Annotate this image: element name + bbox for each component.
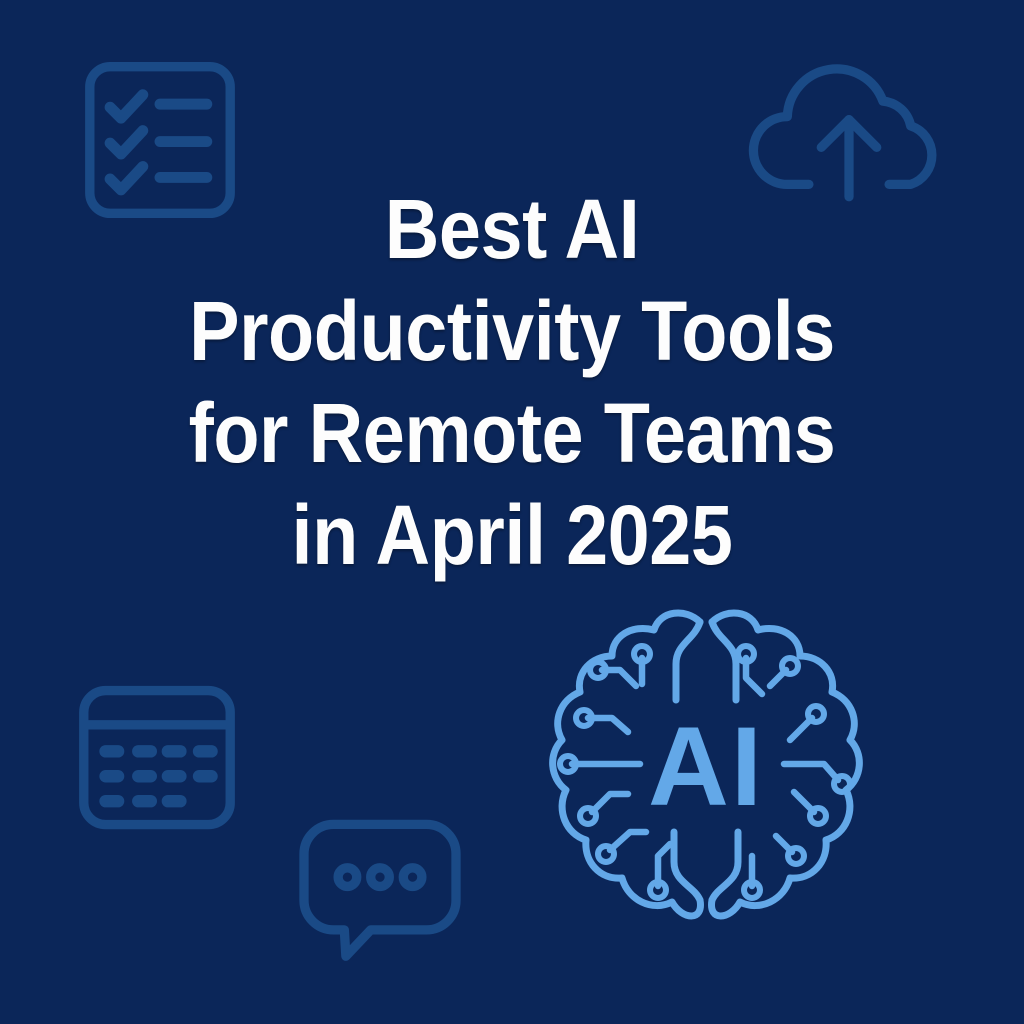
page-title: Best AI Productivity Tools for Remote Te…	[0, 178, 1024, 586]
chat-bubble-icon	[296, 812, 464, 964]
headline-line-1: Best AI	[87, 178, 937, 280]
ai-brain-icon: AI	[536, 600, 876, 944]
headline-line-2: Productivity Tools	[87, 280, 937, 382]
calendar-icon	[76, 678, 238, 834]
brain-ai-label: AI	[648, 704, 764, 829]
headline-line-3: for Remote Teams	[87, 382, 937, 484]
headline-line-4: in April 2025	[87, 484, 937, 586]
poster-canvas: Best AI Productivity Tools for Remote Te…	[0, 0, 1024, 1024]
